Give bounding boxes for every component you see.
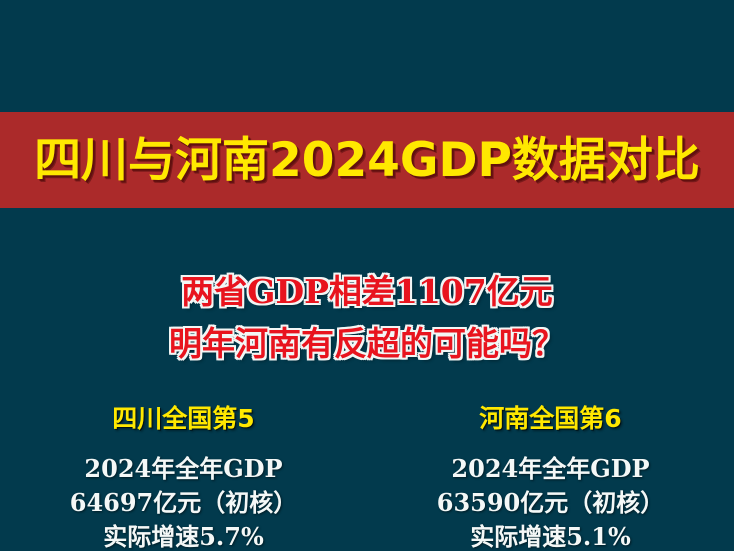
headline-line-2: 明年河南有反超的可能吗？ bbox=[0, 318, 734, 370]
headline-block: 两省GDP相差1107亿元 明年河南有反超的可能吗？ bbox=[0, 266, 734, 370]
headline-line-1: 两省GDP相差1107亿元 bbox=[0, 266, 734, 318]
comparison-column-henan: 河南全国第6 2024年全年GDP 63590亿元（初核） 实际增速5.1% bbox=[367, 402, 734, 551]
column-heading-sichuan: 四川全国第5 bbox=[0, 402, 367, 436]
sichuan-gdp-value: 64697亿元（初核） bbox=[0, 486, 367, 520]
column-heading-henan: 河南全国第6 bbox=[367, 402, 734, 436]
henan-growth-rate: 实际增速5.1% bbox=[367, 520, 734, 551]
page-title: 四川与河南2024GDP数据对比 bbox=[34, 137, 700, 184]
comparison-columns: 四川全国第5 2024年全年GDP 64697亿元（初核） 实际增速5.7% 河… bbox=[0, 402, 734, 551]
comparison-column-sichuan: 四川全国第5 2024年全年GDP 64697亿元（初核） 实际增速5.7% bbox=[0, 402, 367, 551]
sichuan-gdp-label: 2024年全年GDP bbox=[0, 452, 367, 486]
poster-canvas: 四川与河南2024GDP数据对比 两省GDP相差1107亿元 明年河南有反超的可… bbox=[0, 0, 734, 551]
column-body-henan: 2024年全年GDP 63590亿元（初核） 实际增速5.1% bbox=[367, 452, 734, 551]
column-body-sichuan: 2024年全年GDP 64697亿元（初核） 实际增速5.7% bbox=[0, 452, 367, 551]
sichuan-growth-rate: 实际增速5.7% bbox=[0, 520, 367, 551]
title-banner: 四川与河南2024GDP数据对比 bbox=[0, 112, 734, 208]
henan-gdp-label: 2024年全年GDP bbox=[367, 452, 734, 486]
henan-gdp-value: 63590亿元（初核） bbox=[367, 486, 734, 520]
